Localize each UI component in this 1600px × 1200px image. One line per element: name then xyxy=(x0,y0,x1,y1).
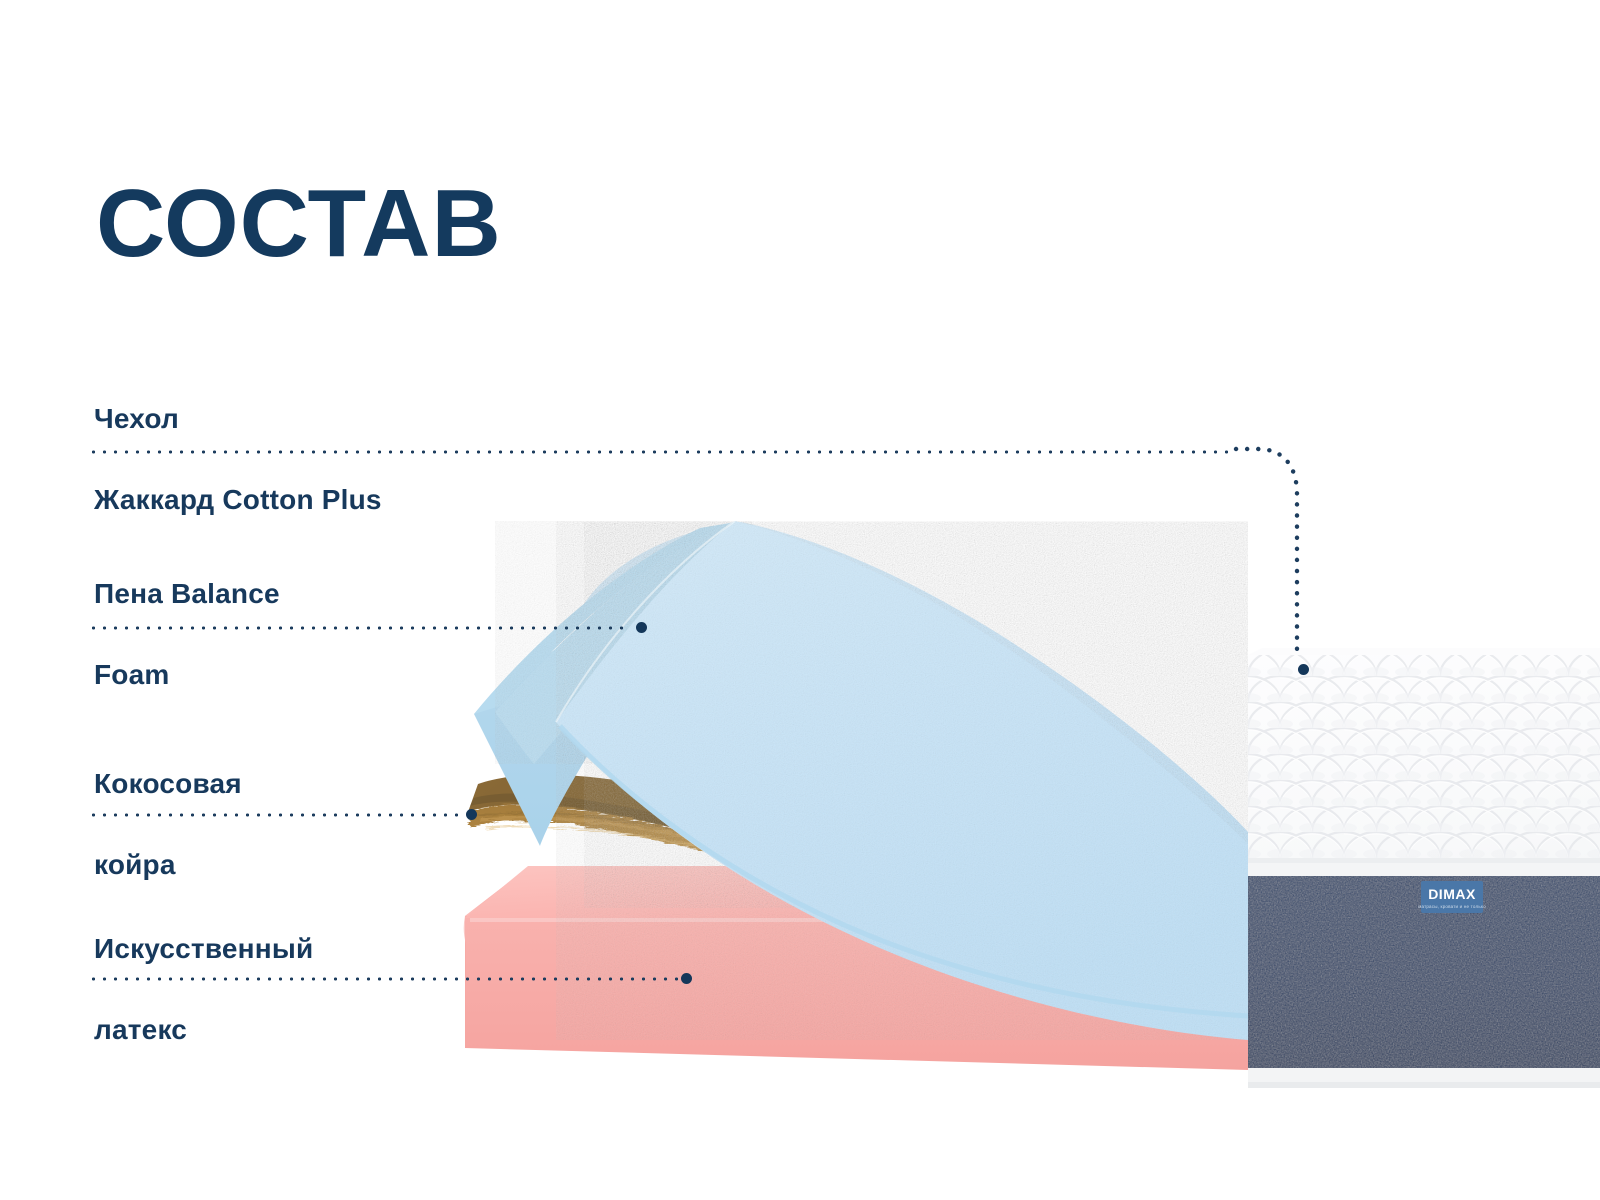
leader-line-foam xyxy=(88,625,628,631)
leader-endpoint-latex xyxy=(681,973,692,984)
svg-text:DIMAX: DIMAX xyxy=(1428,886,1476,902)
latex-top-wedge xyxy=(465,866,1248,918)
dimax-logo: DIMAX матрасы, кровати и не только xyxy=(1418,881,1486,913)
layer-label-latex: Искусственный латекс xyxy=(94,888,313,1091)
layer-label-latex-line1: Искусственный xyxy=(94,929,313,970)
svg-text:матрасы, кровати и не только: матрасы, кровати и не только xyxy=(1418,904,1486,909)
page-title: СОСТАВ xyxy=(96,176,502,272)
foam-sheet xyxy=(474,521,1248,1070)
latex-layer-shape xyxy=(464,869,1248,1070)
leader-endpoint-cover xyxy=(1298,664,1309,675)
layer-label-cover-line1: Чехол xyxy=(94,399,382,440)
leader-endpoint-coir xyxy=(466,809,477,820)
layer-label-latex-line2: латекс xyxy=(94,1010,313,1051)
layer-label-foam-line2: Foam xyxy=(94,655,280,696)
coir-layer-shape xyxy=(468,775,1248,952)
leader-endpoint-foam xyxy=(636,622,647,633)
layer-label-coir-line2: койра xyxy=(94,845,242,886)
leader-line-latex xyxy=(88,976,681,982)
foam-visual xyxy=(495,521,1248,1040)
cover-layer-shape xyxy=(1240,648,1600,1028)
layer-label-foam-line1: Пена Balance xyxy=(94,574,280,615)
leader-line-cover xyxy=(1236,449,1297,658)
layer-label-foam: Пена Balance Foam xyxy=(94,533,280,736)
composition-infographic: DIMAX матрасы, кровати и не только СОСТА… xyxy=(0,0,1600,1200)
mattress-side-panel xyxy=(1248,858,1600,1088)
layer-label-coir-line1: Кокосовая xyxy=(94,764,242,805)
layer-label-cover: Чехол Жаккард Cotton Plus xyxy=(94,358,382,561)
leader-line-coir xyxy=(88,812,463,818)
leader-line-cover-horizontal xyxy=(88,449,1236,455)
layer-label-cover-line2: Жаккард Cotton Plus xyxy=(94,480,382,521)
foam-layer-shape xyxy=(474,522,1248,1100)
